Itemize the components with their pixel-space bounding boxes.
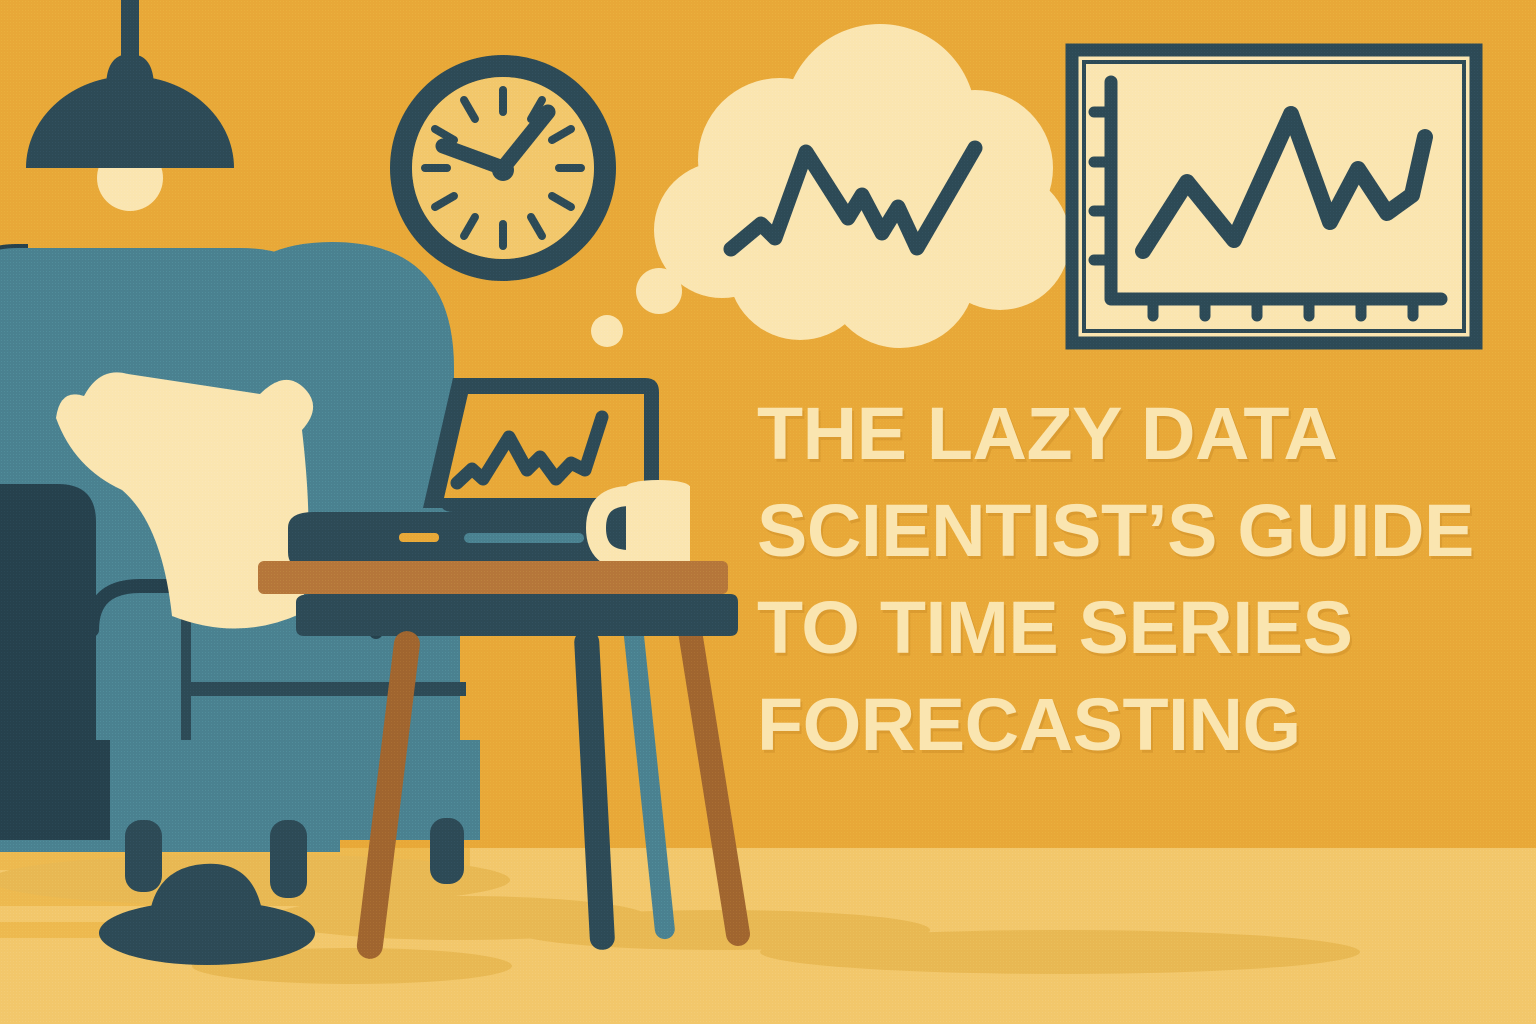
title-line-2: SCIENTIST’S GUIDE	[757, 482, 1471, 579]
hat-crown	[148, 864, 264, 935]
title-line-3: TO TIME SERIES	[757, 579, 1471, 676]
title-line-4: FORECASTING	[757, 676, 1471, 773]
illustration-canvas: THE LAZY DATA SCIENTIST’S GUIDE TO TIME …	[0, 0, 1536, 1024]
title-line-1: THE LAZY DATA	[757, 385, 1471, 482]
page-title: THE LAZY DATA SCIENTIST’S GUIDE TO TIME …	[757, 385, 1457, 773]
